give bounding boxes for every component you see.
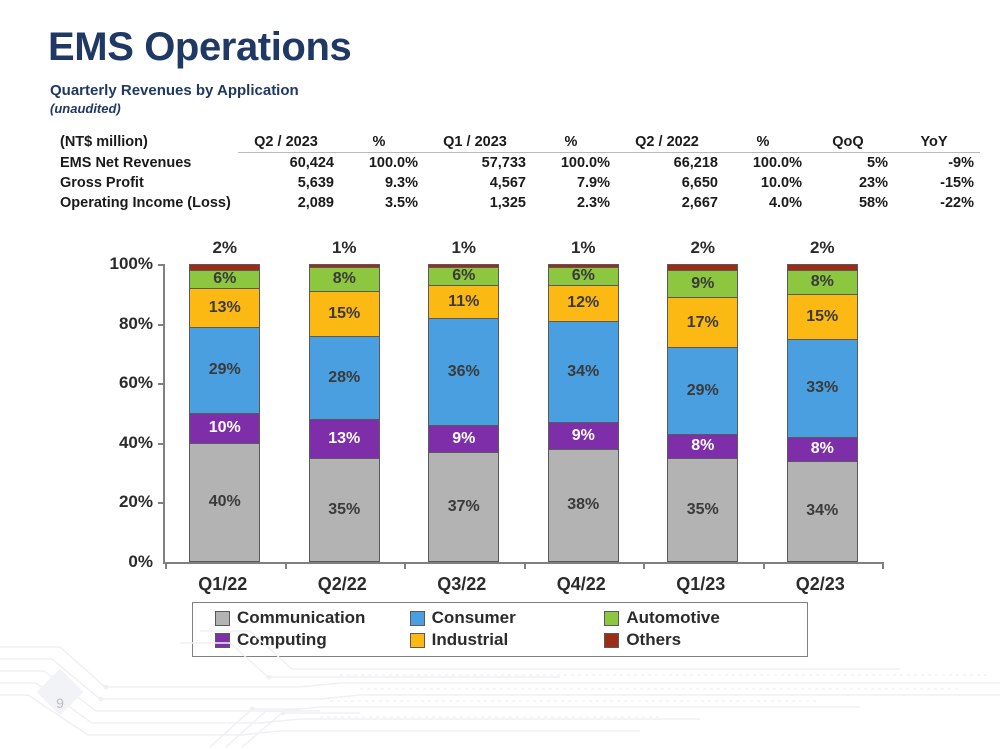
x-axis-tick-mark — [643, 562, 645, 569]
bar-segment-consumer[interactable]: 34% — [548, 321, 619, 422]
cell-q2-2023: 60,424 — [238, 153, 340, 174]
bar-segment-industrial[interactable]: 15% — [309, 291, 380, 336]
y-axis-tick-label: 40% — [93, 433, 153, 453]
x-axis-tick-mark — [524, 562, 526, 569]
legend-item-industrial[interactable]: Industrial — [410, 630, 605, 650]
legend-item-label: Automotive — [626, 608, 720, 628]
cell-q2-2022-pct: 10.0% — [724, 173, 808, 193]
bar-top-label: 1% — [428, 238, 499, 258]
page-subtitle: Quarterly Revenues by Application — [50, 82, 299, 99]
legend-item-consumer[interactable]: Consumer — [410, 608, 605, 628]
bar-segment-industrial[interactable]: 11% — [428, 285, 499, 318]
y-axis-tick-label: 100% — [93, 254, 153, 274]
table-row: Gross Profit 5,639 9.3% 4,567 7.9% 6,650… — [50, 173, 980, 193]
bar-top-label: 1% — [548, 238, 619, 258]
cell-q2-2022: 6,650 — [616, 173, 724, 193]
cell-q2-2023-pct: 9.3% — [340, 173, 424, 193]
y-axis-tick-mark — [158, 383, 165, 385]
y-axis-tick-mark — [158, 502, 165, 504]
financial-summary-table: (NT$ million) Q2 / 2023 % Q1 / 2023 % Q2… — [50, 132, 980, 213]
bar-top-label: 2% — [667, 238, 738, 258]
bar-segment-communication[interactable]: 38% — [548, 449, 619, 562]
cell-q1-2023: 57,733 — [424, 153, 532, 174]
cell-qoq: 5% — [808, 153, 894, 174]
bar-segment-consumer[interactable]: 33% — [787, 339, 858, 437]
bar-segment-computing[interactable]: 9% — [548, 422, 619, 449]
bar-segment-communication[interactable]: 34% — [787, 461, 858, 562]
bar-segment-computing[interactable]: 9% — [428, 425, 499, 452]
bar-segment-communication[interactable]: 35% — [667, 458, 738, 562]
bar-top-label: 2% — [787, 238, 858, 258]
legend-item-computing[interactable]: Computing — [215, 630, 410, 650]
legend-swatch-icon — [604, 633, 619, 648]
x-axis-tick-mark — [763, 562, 765, 569]
bar-segment-automotive[interactable]: 6% — [548, 267, 619, 285]
cell-q1-2023-pct: 2.3% — [532, 193, 616, 213]
bar-segment-automotive[interactable]: 8% — [309, 267, 380, 291]
bar-segment-industrial[interactable]: 13% — [189, 288, 260, 327]
x-axis-tick-mark — [165, 562, 167, 569]
cell-q2-2023-pct: 100.0% — [340, 153, 424, 174]
table-header-row: (NT$ million) Q2 / 2023 % Q1 / 2023 % Q2… — [50, 132, 980, 153]
legend-swatch-icon — [215, 633, 230, 648]
column-header-qoq: QoQ — [808, 132, 894, 153]
chart-legend: CommunicationConsumerAutomotiveComputing… — [192, 602, 808, 657]
column-header-q2-2022: Q2 / 2022 — [616, 132, 724, 153]
x-axis-tick-label: Q2/22 — [282, 574, 402, 595]
stacked-bar[interactable]: 37%9%36%11%6% — [428, 264, 499, 562]
legend-item-others[interactable]: Others — [604, 630, 799, 650]
x-axis-tick-mark — [404, 562, 406, 569]
cell-q2-2022: 66,218 — [616, 153, 724, 174]
row-label-ems-net-revenues: EMS Net Revenues — [50, 153, 238, 174]
x-axis-tick-label: Q1/23 — [641, 574, 761, 595]
revenue-mix-chart: 0%20%40%60%80%100% 40%10%29%13%6%2%35%13… — [0, 236, 1000, 656]
cell-q1-2023-pct: 7.9% — [532, 173, 616, 193]
y-axis-tick-mark — [158, 324, 165, 326]
legend-swatch-icon — [410, 611, 425, 626]
legend-item-communication[interactable]: Communication — [215, 608, 410, 628]
unaudited-note: (unaudited) — [50, 101, 121, 116]
cell-q1-2023: 4,567 — [424, 173, 532, 193]
bar-segment-computing[interactable]: 8% — [667, 434, 738, 458]
cell-q1-2023-pct: 100.0% — [532, 153, 616, 174]
legend-swatch-icon — [215, 611, 230, 626]
y-axis-tick-label: 0% — [93, 552, 153, 572]
y-axis-tick-label: 60% — [93, 373, 153, 393]
bar-top-label: 2% — [189, 238, 260, 258]
bar-segment-automotive[interactable]: 9% — [667, 270, 738, 297]
row-label-gross-profit: Gross Profit — [50, 173, 238, 193]
stacked-bar[interactable]: 35%8%29%17%9% — [667, 264, 738, 562]
bar-segment-computing[interactable]: 10% — [189, 413, 260, 443]
chart-plot-area: 0%20%40%60%80%100% 40%10%29%13%6%2%35%13… — [163, 264, 882, 564]
cell-yoy: -22% — [894, 193, 980, 213]
stacked-bar[interactable]: 35%13%28%15%8% — [309, 264, 380, 562]
bar-segment-automotive[interactable]: 6% — [189, 270, 260, 288]
column-header-q1-2023: Q1 / 2023 — [424, 132, 532, 153]
legend-item-label: Consumer — [432, 608, 516, 628]
cell-yoy: -15% — [894, 173, 980, 193]
bar-segment-automotive[interactable]: 8% — [787, 270, 858, 294]
legend-item-label: Others — [626, 630, 681, 650]
stacked-bar[interactable]: 40%10%29%13%6% — [189, 264, 260, 562]
table-row: EMS Net Revenues 60,424 100.0% 57,733 10… — [50, 153, 980, 174]
y-axis-tick-mark — [158, 443, 165, 445]
column-header-pct-2: % — [532, 132, 616, 153]
stacked-bar[interactable]: 38%9%34%12%6% — [548, 264, 619, 562]
x-axis-tick-mark — [285, 562, 287, 569]
bar-segment-communication[interactable]: 37% — [428, 452, 499, 562]
cell-q2-2022-pct: 4.0% — [724, 193, 808, 213]
cell-q2-2023: 5,639 — [238, 173, 340, 193]
x-axis-tick-label: Q4/22 — [521, 574, 641, 595]
bar-segment-industrial[interactable]: 15% — [787, 294, 858, 339]
x-axis-tick-label: Q1/22 — [163, 574, 283, 595]
bar-segment-communication[interactable]: 35% — [309, 458, 380, 562]
x-axis-tick-label: Q3/22 — [402, 574, 522, 595]
legend-item-label: Industrial — [432, 630, 509, 650]
y-axis-tick-label: 20% — [93, 492, 153, 512]
bar-segment-industrial[interactable]: 12% — [548, 285, 619, 321]
bar-segment-consumer[interactable]: 28% — [309, 336, 380, 419]
cell-q2-2023: 2,089 — [238, 193, 340, 213]
x-axis-tick-mark — [882, 562, 884, 569]
x-axis-tick-label: Q2/23 — [760, 574, 880, 595]
bar-top-label: 1% — [309, 238, 380, 258]
column-header-q2-2023: Q2 / 2023 — [238, 132, 340, 153]
column-header-pct-3: % — [724, 132, 808, 153]
cell-q2-2022-pct: 100.0% — [724, 153, 808, 174]
bar-segment-communication[interactable]: 40% — [189, 443, 260, 562]
page-title: EMS Operations — [48, 26, 351, 68]
y-axis-tick-mark — [158, 264, 165, 266]
stacked-bar[interactable]: 34%8%33%15%8% — [787, 264, 858, 562]
cell-qoq: 58% — [808, 193, 894, 213]
bar-segment-consumer[interactable]: 29% — [189, 327, 260, 413]
bar-segment-consumer[interactable]: 36% — [428, 318, 499, 425]
cell-q1-2023: 1,325 — [424, 193, 532, 213]
legend-swatch-icon — [410, 633, 425, 648]
y-axis-tick-label: 80% — [93, 314, 153, 334]
bar-segment-consumer[interactable]: 29% — [667, 347, 738, 433]
legend-swatch-icon — [604, 611, 619, 626]
column-header-pct-1: % — [340, 132, 424, 153]
cell-q2-2023-pct: 3.5% — [340, 193, 424, 213]
legend-item-label: Computing — [237, 630, 327, 650]
cell-qoq: 23% — [808, 173, 894, 193]
cell-q2-2022: 2,667 — [616, 193, 724, 213]
cell-yoy: -9% — [894, 153, 980, 174]
table-row: Operating Income (Loss) 2,089 3.5% 1,325… — [50, 193, 980, 213]
bar-segment-automotive[interactable]: 6% — [428, 267, 499, 285]
legend-item-label: Communication — [237, 608, 365, 628]
column-header-unit: (NT$ million) — [50, 132, 238, 153]
row-label-operating-income: Operating Income (Loss) — [50, 193, 238, 213]
bar-segment-industrial[interactable]: 17% — [667, 297, 738, 348]
column-header-yoy: YoY — [894, 132, 980, 153]
legend-item-automotive[interactable]: Automotive — [604, 608, 799, 628]
page-number: 9 — [46, 695, 74, 711]
bar-segment-computing[interactable]: 13% — [309, 419, 380, 458]
bar-segment-computing[interactable]: 8% — [787, 437, 858, 461]
